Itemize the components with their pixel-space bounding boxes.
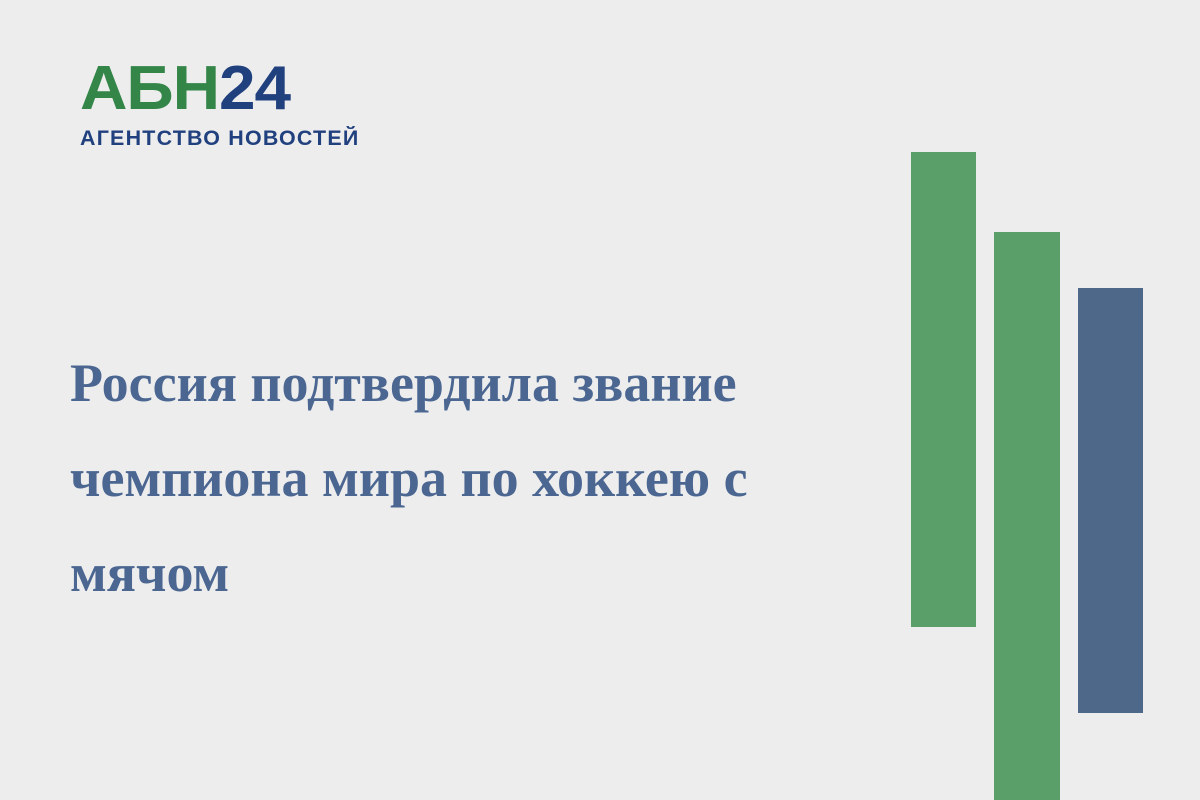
headline-line-3: мячом xyxy=(70,526,870,621)
logo-wordmark-primary: АБН xyxy=(80,54,219,123)
logo[interactable]: АБН24 АГЕНТСТВО НОВОСТЕЙ xyxy=(80,58,380,151)
headline-line-2: чемпиона мира по хоккею с xyxy=(70,431,870,526)
headline-line-1: Россия подтвердила звание xyxy=(70,336,870,431)
decorative-bar-green-tall xyxy=(911,152,976,627)
logo-wordmark: АБН24 xyxy=(80,58,398,120)
decorative-bar-green-long xyxy=(994,232,1060,800)
decorative-bar-blue-short xyxy=(1078,288,1143,713)
news-card: АБН24 АГЕНТСТВО НОВОСТЕЙ Россия подтверд… xyxy=(0,0,1200,800)
logo-tagline: АГЕНТСТВО НОВОСТЕЙ xyxy=(80,127,386,151)
logo-wordmark-secondary: 24 xyxy=(219,54,290,123)
page-title: Россия подтвердила звание чемпиона мира … xyxy=(70,336,870,621)
